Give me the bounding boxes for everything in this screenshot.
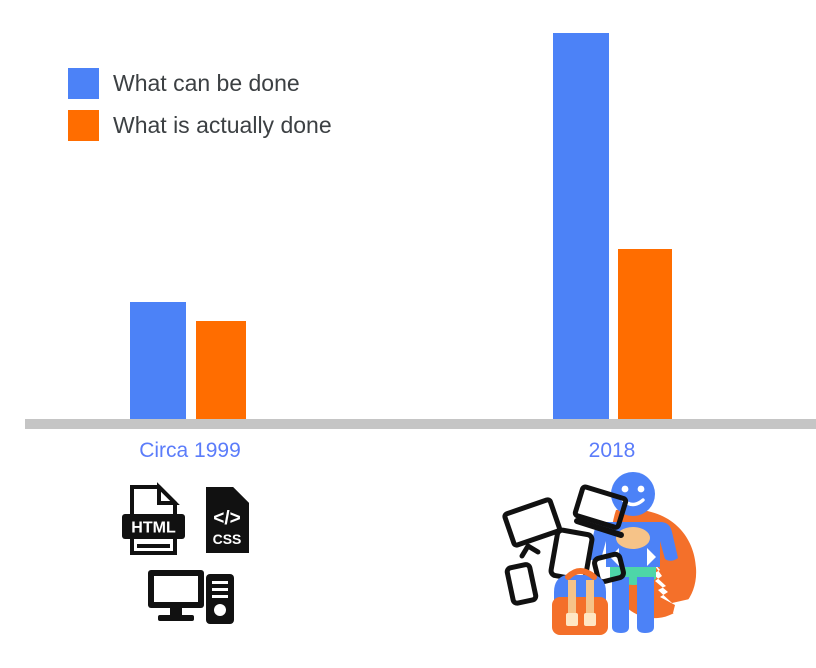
slide-canvas: What can be done What is actually done C… [0,0,816,668]
svg-text:HTML: HTML [131,520,176,537]
bar-2018-can-be-done [553,33,609,424]
html-file-icon: HTML [122,487,185,553]
desktop-computer-icon [148,570,234,624]
chart-baseline [25,419,816,429]
svg-text:</>: </> [213,508,240,529]
bar-1999-can-be-done [130,302,186,424]
bar-1999-actually-done [196,321,246,424]
bar-2018-actually-done [618,249,672,424]
art-2018: WWW [498,470,718,642]
axis-label-2018: 2018 [552,439,672,463]
axis-label-circa-1999: Circa 1999 [110,439,270,463]
monitor-icon [504,499,560,556]
svg-text:CSS: CSS [213,531,242,547]
icons-circa-1999: HTML </> CSS [120,482,270,632]
phone-icon [506,564,536,604]
bars-layer [0,0,816,429]
css-file-icon: </> CSS [206,487,249,553]
backpack-icon [552,571,608,635]
